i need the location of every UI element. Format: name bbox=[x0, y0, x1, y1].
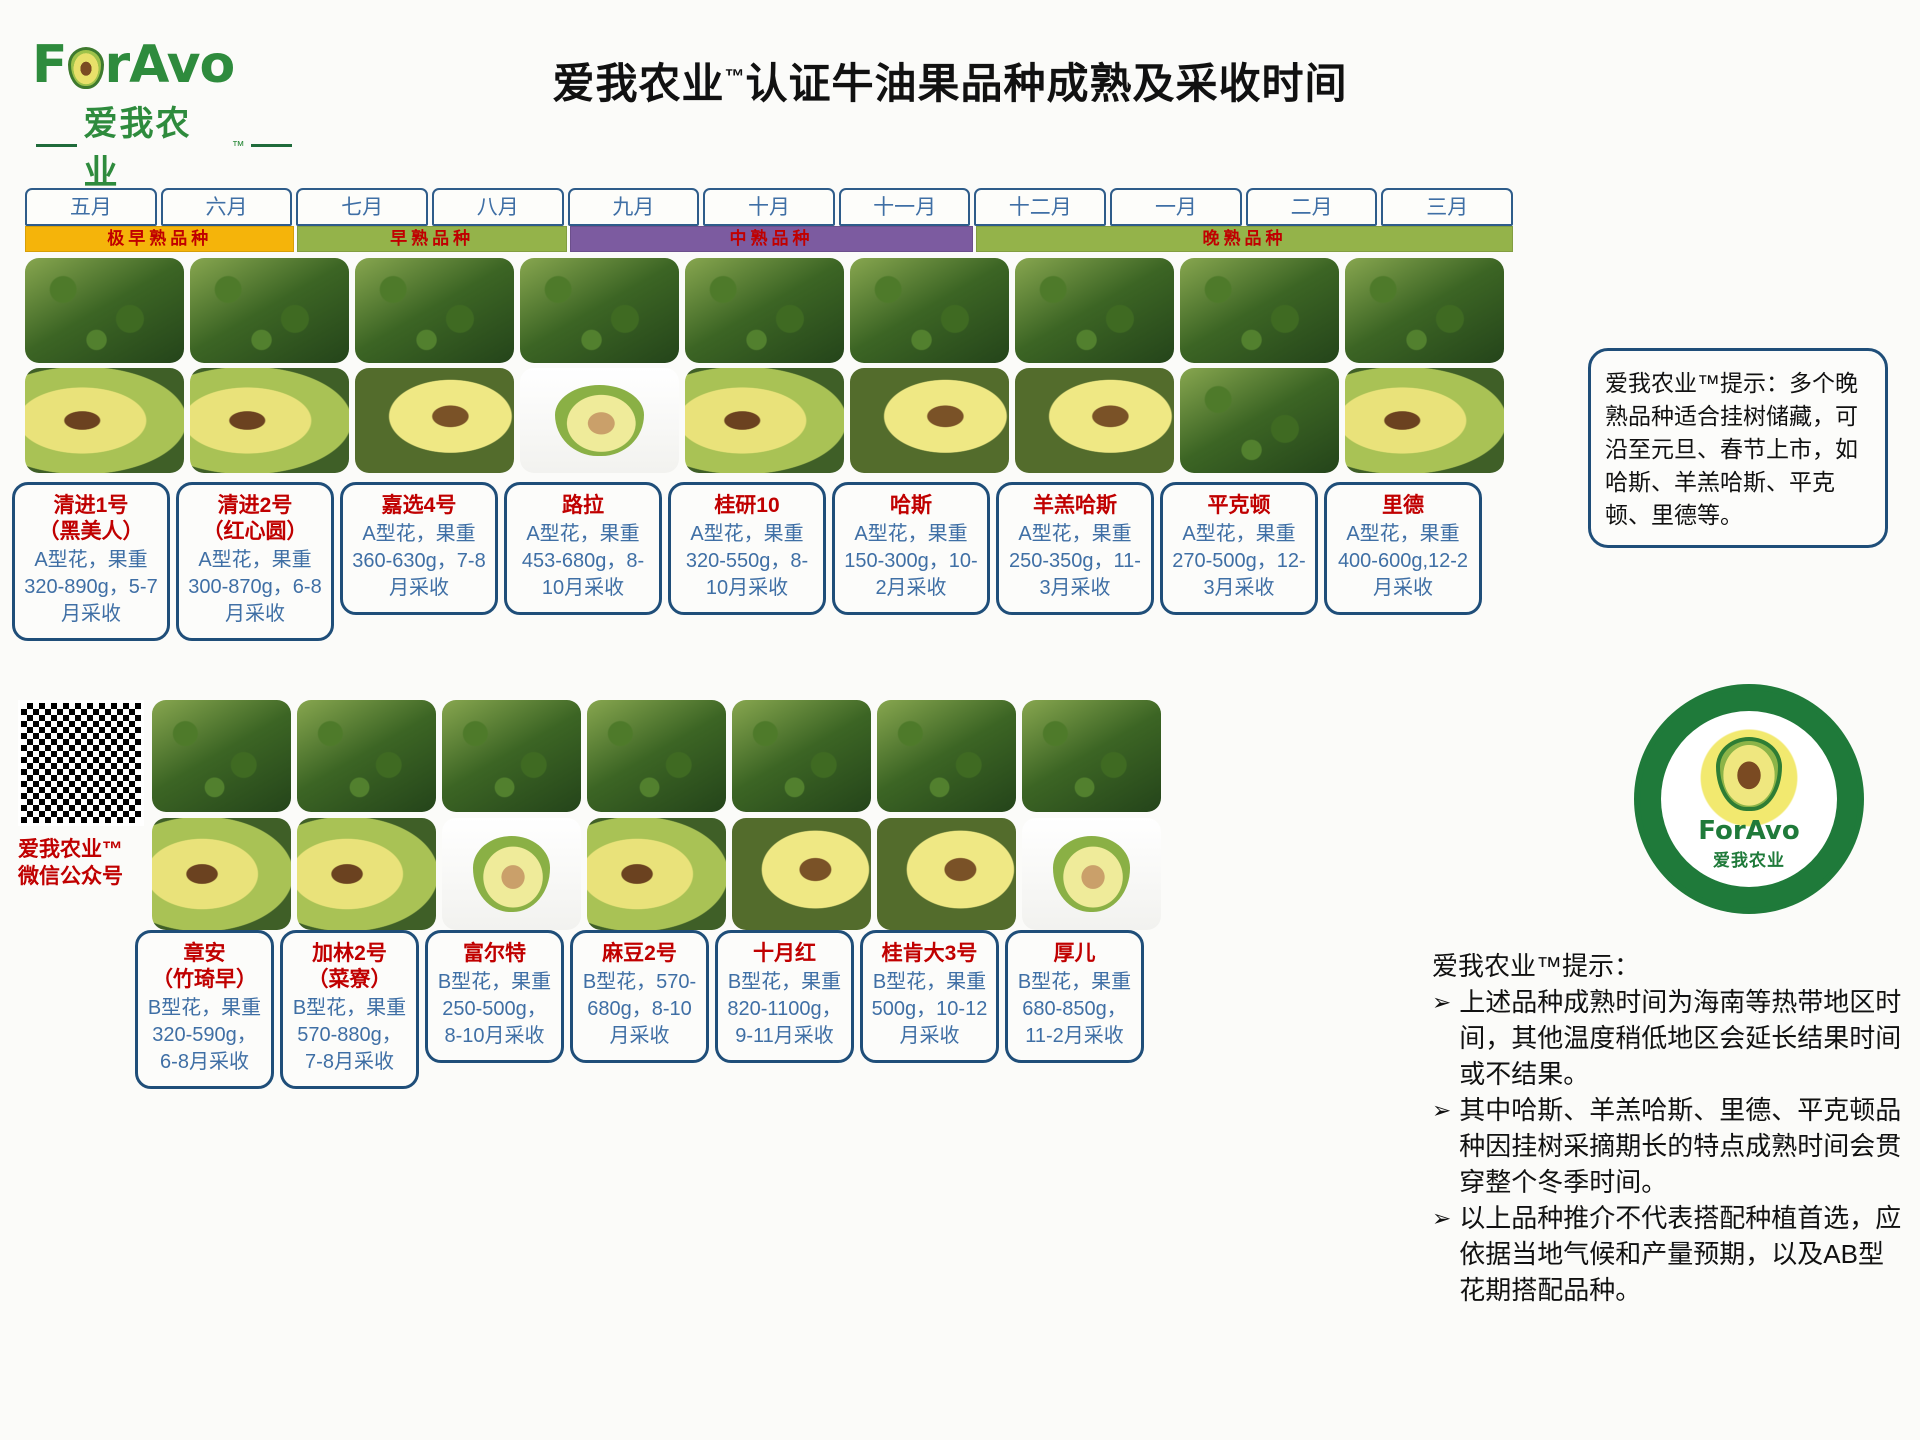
variety-description: A型花，果重250-350g，11-3月采收 bbox=[1005, 521, 1145, 602]
variety-photo bbox=[355, 368, 514, 473]
logo-tm-mark: ™ bbox=[232, 138, 245, 153]
notes-list: ➢上述品种成熟时间为海南等热带地区时间，其他温度稍低地区会延长结果时间或不结果。… bbox=[1432, 984, 1902, 1308]
variety-description: B型花，果重320-590g，6-8月采收 bbox=[144, 995, 265, 1076]
note-text: 以上品种推介不代表搭配种植首选，应依据当地气候和产量预期，以及AB型花期搭配品种… bbox=[1459, 1200, 1902, 1308]
variety-name: 羊羔哈斯 bbox=[1005, 493, 1145, 519]
variety-photo bbox=[685, 258, 844, 363]
variety-card[interactable]: 哈斯A型花，果重150-300g，10-2月采收 bbox=[832, 482, 990, 615]
variety-photo bbox=[877, 818, 1016, 930]
logo-subtitle: 爱我农业 ™ bbox=[22, 96, 292, 194]
poster-root: FrAvo 爱我农业 ™ 爱我农业™认证牛油果品种成熟及采收时间 五月六月七月八… bbox=[0, 0, 1920, 1440]
tip-box: 爱我农业™提示：多个晚熟品种适合挂树储藏，可沿至元旦、春节上市，如哈斯、羊羔哈斯… bbox=[1588, 348, 1888, 548]
variety-card[interactable]: 平克顿A型花，果重270-500g，12-3月采收 bbox=[1160, 482, 1318, 615]
variety-card[interactable]: 里德A型花，果重400-600g,12-2月采收 bbox=[1324, 482, 1482, 615]
brand-logo: FrAvo 爱我农业 ™ bbox=[22, 36, 292, 141]
variety-description: A型花，果重300-870g，6-8月采收 bbox=[185, 547, 325, 628]
variety-name: 清进2号 bbox=[185, 493, 325, 519]
month-cell: 一月 bbox=[1110, 188, 1242, 226]
variety-photo bbox=[587, 700, 726, 812]
variety-card[interactable]: 桂肯大3号B型花，果重500g，10-12月采收 bbox=[860, 930, 999, 1063]
month-cell: 十月 bbox=[703, 188, 835, 226]
variety-name: 富尔特 bbox=[434, 941, 555, 967]
wechat-qr-block[interactable]: 爱我农业™ 微信公众号 bbox=[18, 700, 150, 890]
ripening-band: 晚熟品种 bbox=[976, 226, 1513, 252]
page-title-rest: 认证牛油果品种成熟及采收时间 bbox=[746, 60, 1348, 107]
variety-description: B型花，果重250-500g，8-10月采收 bbox=[434, 969, 555, 1050]
variety-card[interactable]: 路拉A型花，果重453-680g，8-10月采收 bbox=[504, 482, 662, 615]
variety-card[interactable]: 十月红B型花，果重820-1100g，9-11月采收 bbox=[715, 930, 854, 1063]
variety-card[interactable]: 清进2号（红心圆）A型花，果重300-870g，6-8月采收 bbox=[176, 482, 334, 641]
logo-chinese-name: 爱我农业 bbox=[83, 96, 225, 194]
variety-name: 十月红 bbox=[724, 941, 845, 967]
note-text: 上述品种成熟时间为海南等热带地区时间，其他温度稍低地区会延长结果时间或不结果。 bbox=[1459, 984, 1902, 1092]
variety-card[interactable]: 嘉选4号A型花，果重360-630g，7-8月采收 bbox=[340, 482, 498, 615]
month-cell: 八月 bbox=[432, 188, 564, 226]
variety-photo bbox=[152, 818, 291, 930]
ripening-band: 极早熟品种 bbox=[25, 226, 294, 252]
variety-description: B型花，570-680g，8-10月采收 bbox=[579, 969, 700, 1050]
variety-photo bbox=[297, 700, 436, 812]
variety-alias: （红心圆） bbox=[185, 519, 325, 545]
variety-name: 嘉选4号 bbox=[349, 493, 489, 519]
variety-name: 清进1号 bbox=[21, 493, 161, 519]
note-bullet-icon: ➢ bbox=[1432, 1092, 1451, 1200]
variety-photo bbox=[587, 818, 726, 930]
logo-rule-left bbox=[36, 144, 77, 147]
variety-alias: （竹琦早） bbox=[144, 967, 265, 993]
qr-code-image[interactable] bbox=[18, 700, 144, 826]
variety-photo bbox=[152, 700, 291, 812]
variety-name: 桂肯大3号 bbox=[869, 941, 990, 967]
page-title-lead: 爱我农业 bbox=[552, 60, 724, 107]
brand-seal-inner: ForAvo 爱我农业 bbox=[1661, 711, 1837, 887]
variety-description: B型花，果重820-1100g，9-11月采收 bbox=[724, 969, 845, 1050]
variety-photo bbox=[25, 258, 184, 363]
variety-name: 哈斯 bbox=[841, 493, 981, 519]
variety-description: B型花，果重680-850g，11-2月采收 bbox=[1014, 969, 1135, 1050]
variety-description: A型花，果重320-890g，5-7月采收 bbox=[21, 547, 161, 628]
page-title-tm: ™ bbox=[725, 66, 746, 88]
variety-description: A型花，果重320-550g，8-10月采收 bbox=[677, 521, 817, 602]
month-cell: 二月 bbox=[1246, 188, 1378, 226]
variety-photo bbox=[1022, 818, 1161, 930]
variety-cards-type-a: 清进1号（黑美人）A型花，果重320-890g，5-7月采收清进2号（红心圆）A… bbox=[12, 482, 1482, 641]
variety-card[interactable]: 加林2号（菜寮）B型花，果重570-880g，7-8月采收 bbox=[280, 930, 419, 1089]
variety-description: A型花，果重360-630g，7-8月采收 bbox=[349, 521, 489, 602]
variety-photo bbox=[1022, 700, 1161, 812]
variety-card[interactable]: 桂研10A型花，果重320-550g，8-10月采收 bbox=[668, 482, 826, 615]
ripening-band: 早熟品种 bbox=[297, 226, 566, 252]
variety-photo bbox=[1180, 368, 1339, 473]
variety-photo bbox=[685, 368, 844, 473]
note-bullet-icon: ➢ bbox=[1432, 1200, 1451, 1308]
variety-name: 桂研10 bbox=[677, 493, 817, 519]
note-bullet-icon: ➢ bbox=[1432, 984, 1451, 1092]
brand-seal: ForAvo 爱我农业 bbox=[1640, 690, 1858, 908]
qr-label-line1: 爱我农业™ bbox=[18, 836, 150, 863]
note-item: ➢其中哈斯、羊羔哈斯、里德、平克顿品种因挂树采摘期长的特点成熟时间会贯穿整个冬季… bbox=[1432, 1092, 1902, 1200]
variety-photo bbox=[877, 700, 1016, 812]
variety-description: B型花，果重570-880g，7-8月采收 bbox=[289, 995, 410, 1076]
page-title: 爱我农业™认证牛油果品种成熟及采收时间 bbox=[400, 50, 1500, 111]
variety-description: A型花，果重270-500g，12-3月采收 bbox=[1169, 521, 1309, 602]
variety-name: 麻豆2号 bbox=[579, 941, 700, 967]
variety-cards-type-b: 章安（竹琦早）B型花，果重320-590g，6-8月采收加林2号（菜寮）B型花，… bbox=[135, 930, 1144, 1089]
variety-photo bbox=[520, 258, 679, 363]
photo-strip-tree-bottom bbox=[152, 700, 1161, 812]
note-text: 其中哈斯、羊羔哈斯、里德、平克顿品种因挂树采摘期长的特点成熟时间会贯穿整个冬季时… bbox=[1459, 1092, 1902, 1200]
month-cell: 九月 bbox=[568, 188, 700, 226]
variety-photo bbox=[1015, 258, 1174, 363]
variety-card[interactable]: 羊羔哈斯A型花，果重250-350g，11-3月采收 bbox=[996, 482, 1154, 615]
variety-name: 厚儿 bbox=[1014, 941, 1135, 967]
ripening-band-row: 极早熟品种早熟品种中熟品种晚熟品种 bbox=[25, 226, 1513, 252]
qr-label-line2: 微信公众号 bbox=[18, 863, 150, 890]
notes-block: 爱我农业™提示： ➢上述品种成熟时间为海南等热带地区时间，其他温度稍低地区会延长… bbox=[1432, 948, 1902, 1308]
month-cell: 十一月 bbox=[839, 188, 971, 226]
ripening-band: 中熟品种 bbox=[570, 226, 973, 252]
variety-photo bbox=[297, 818, 436, 930]
variety-alias: （黑美人） bbox=[21, 519, 161, 545]
photo-strip-tree-top bbox=[25, 258, 1504, 363]
avocado-icon bbox=[68, 47, 104, 89]
variety-alias: （菜寮） bbox=[289, 967, 410, 993]
variety-photo bbox=[1015, 368, 1174, 473]
variety-photo bbox=[355, 258, 514, 363]
note-item: ➢上述品种成熟时间为海南等热带地区时间，其他温度稍低地区会延长结果时间或不结果。 bbox=[1432, 984, 1902, 1092]
variety-card[interactable]: 富尔特B型花，果重250-500g，8-10月采收 bbox=[425, 930, 564, 1063]
variety-name: 加林2号 bbox=[289, 941, 410, 967]
variety-card[interactable]: 麻豆2号B型花，570-680g，8-10月采收 bbox=[570, 930, 709, 1063]
month-cell: 七月 bbox=[296, 188, 428, 226]
variety-card[interactable]: 厚儿B型花，果重680-850g，11-2月采收 bbox=[1005, 930, 1144, 1063]
month-cell: 十二月 bbox=[974, 188, 1106, 226]
notes-title: 爱我农业™提示： bbox=[1432, 948, 1902, 984]
variety-photo bbox=[850, 258, 1009, 363]
variety-photo bbox=[1345, 368, 1504, 473]
month-cell: 三月 bbox=[1381, 188, 1513, 226]
variety-photo bbox=[190, 258, 349, 363]
variety-card[interactable]: 章安（竹琦早）B型花，果重320-590g，6-8月采收 bbox=[135, 930, 274, 1089]
variety-description: B型花，果重500g，10-12月采收 bbox=[869, 969, 990, 1050]
month-cell: 五月 bbox=[25, 188, 157, 226]
variety-card[interactable]: 清进1号（黑美人）A型花，果重320-890g，5-7月采收 bbox=[12, 482, 170, 641]
variety-photo bbox=[732, 700, 871, 812]
variety-description: A型花，果重400-600g,12-2月采收 bbox=[1333, 521, 1473, 602]
qr-label: 爱我农业™ 微信公众号 bbox=[18, 836, 150, 890]
seal-avocado-icon bbox=[1716, 737, 1782, 811]
variety-photo bbox=[1180, 258, 1339, 363]
variety-name: 里德 bbox=[1333, 493, 1473, 519]
logo-wordmark: FrAvo bbox=[22, 36, 292, 94]
variety-photo bbox=[442, 818, 581, 930]
variety-photo bbox=[190, 368, 349, 473]
logo-rule-right bbox=[251, 144, 292, 147]
variety-name: 平克顿 bbox=[1169, 493, 1309, 519]
variety-name: 章安 bbox=[144, 941, 265, 967]
variety-photo bbox=[442, 700, 581, 812]
month-header-row: 五月六月七月八月九月十月十一月十二月一月二月三月 bbox=[25, 188, 1513, 226]
variety-photo bbox=[1345, 258, 1504, 363]
month-cell: 六月 bbox=[161, 188, 293, 226]
note-item: ➢以上品种推介不代表搭配种植首选，应依据当地气候和产量预期，以及AB型花期搭配品… bbox=[1432, 1200, 1902, 1308]
seal-wordmark: ForAvo bbox=[1698, 816, 1799, 846]
photo-strip-fruit-bottom bbox=[152, 818, 1161, 930]
variety-photo bbox=[25, 368, 184, 473]
seal-chinese-name: 爱我农业 bbox=[1713, 846, 1785, 871]
variety-photo bbox=[850, 368, 1009, 473]
variety-description: A型花，果重150-300g，10-2月采收 bbox=[841, 521, 981, 602]
variety-description: A型花，果重453-680g，8-10月采收 bbox=[513, 521, 653, 602]
variety-name: 路拉 bbox=[513, 493, 653, 519]
photo-strip-fruit-top bbox=[25, 368, 1504, 473]
variety-photo bbox=[520, 368, 679, 473]
variety-photo bbox=[732, 818, 871, 930]
